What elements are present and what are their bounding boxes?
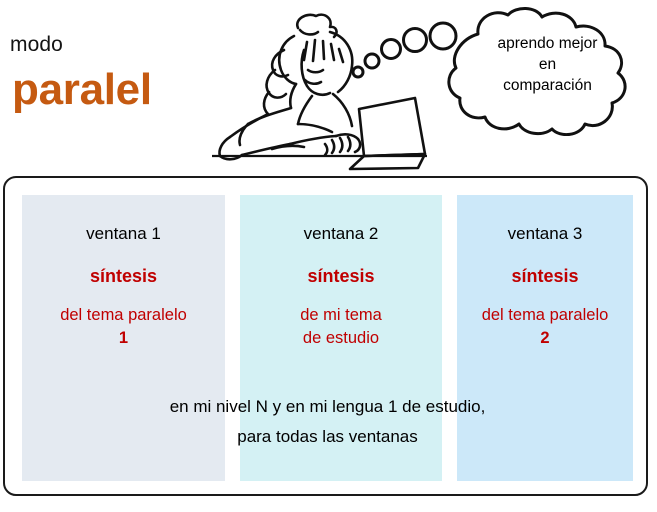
- parallel-mode-panel: ventana 1 síntesis del tema paralelo 1 v…: [3, 176, 648, 496]
- window-3-synthesis-label: síntesis: [457, 265, 633, 288]
- thought-bubble-line-2: en: [460, 54, 635, 75]
- window-1-description: del tema paralelo 1: [22, 304, 225, 350]
- thought-bubble-line-3: comparación: [460, 75, 635, 96]
- thought-bubble-text: aprendo mejor en comparación: [460, 33, 635, 96]
- header-area: modo paralel: [0, 0, 657, 176]
- window-2-description-line-1: de mi tema: [240, 304, 442, 327]
- window-3-description: del tema paralelo 2: [457, 304, 633, 350]
- window-2-synthesis-label: síntesis: [240, 265, 442, 288]
- window-column-2[interactable]: ventana 2 síntesis de mi tema de estudio: [240, 195, 442, 481]
- thought-bubble-line-1: aprendo mejor: [460, 33, 635, 54]
- window-3-description-line-2: 2: [457, 327, 633, 350]
- window-1-title: ventana 1: [22, 223, 225, 245]
- window-1-synthesis-label: síntesis: [22, 265, 225, 288]
- window-3-title: ventana 3: [457, 223, 633, 245]
- window-2-description: de mi tema de estudio: [240, 304, 442, 350]
- window-column-3[interactable]: ventana 3 síntesis del tema paralelo 2: [457, 195, 633, 481]
- window-columns: ventana 1 síntesis del tema paralelo 1 v…: [5, 178, 650, 498]
- mode-label: modo: [10, 33, 63, 57]
- window-column-2-content: ventana 2 síntesis de mi tema de estudio: [240, 195, 442, 350]
- window-2-description-line-2: de estudio: [240, 327, 442, 350]
- window-2-title: ventana 2: [240, 223, 442, 245]
- window-column-1-content: ventana 1 síntesis del tema paralelo 1: [22, 195, 225, 350]
- window-column-1[interactable]: ventana 1 síntesis del tema paralelo 1: [22, 195, 225, 481]
- window-3-description-line-1: del tema paralelo: [457, 304, 633, 327]
- window-column-3-content: ventana 3 síntesis del tema paralelo 2: [457, 195, 633, 350]
- window-1-description-line-2: 1: [22, 327, 225, 350]
- window-1-description-line-1: del tema paralelo: [22, 304, 225, 327]
- mode-value-paralel: paralel: [12, 64, 152, 116]
